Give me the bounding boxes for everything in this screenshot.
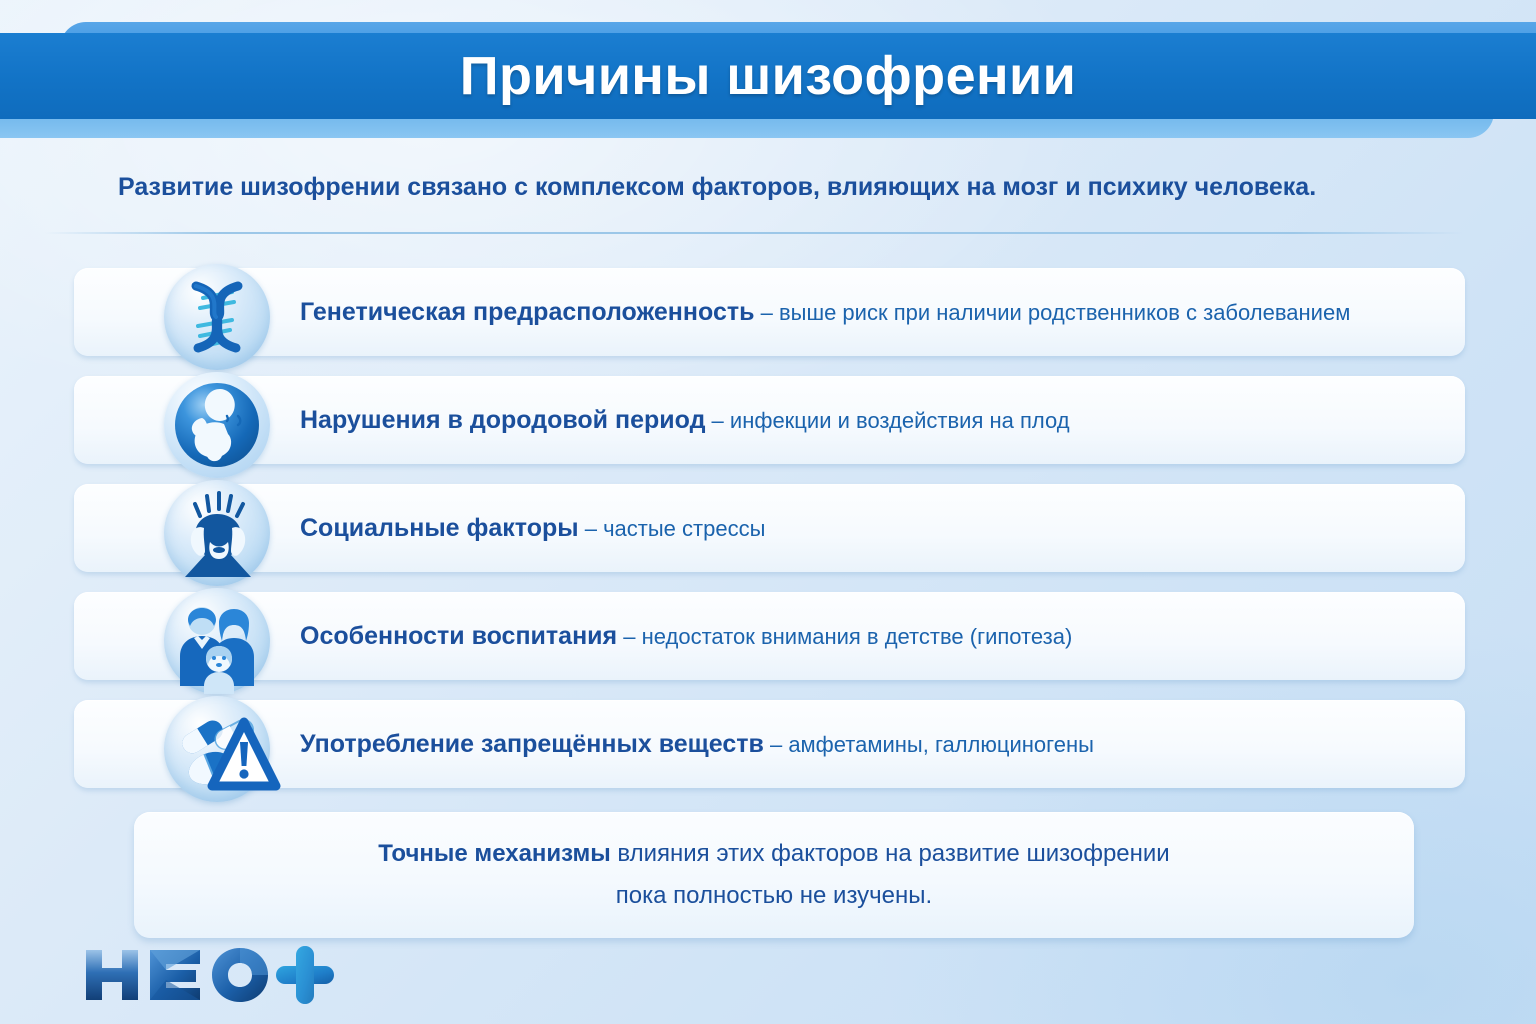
- conclusion-line-2: пока полностью не изучены.: [616, 882, 932, 910]
- factor-dash: –: [705, 408, 729, 433]
- factor-dash: –: [579, 516, 603, 541]
- factors-list: Генетическая предрасположенность – выше …: [0, 268, 1536, 808]
- header-divider: [44, 232, 1464, 234]
- conclusion-emphasis: Точные механизмы: [378, 840, 610, 867]
- list-item[interactable]: Употребление запрещённых веществ – амфет…: [0, 700, 1536, 804]
- factor-dash: –: [764, 732, 788, 757]
- factor-text: Нарушения в дородовой период – инфекции …: [300, 376, 1446, 464]
- logo-icon: [80, 944, 340, 1006]
- factor-text: Социальные факторы – частые стрессы: [300, 484, 1446, 572]
- header-banner: Причины шизофрении: [0, 33, 1536, 119]
- factor-desc: инфекции и воздействия на плод: [730, 408, 1070, 433]
- factor-title: Генетическая предрасположенность: [300, 298, 754, 326]
- list-item[interactable]: Особенности воспитания – недостаток вним…: [0, 592, 1536, 696]
- page-header: Причины шизофрении: [0, 0, 1536, 145]
- factor-dash: –: [754, 300, 778, 325]
- list-item[interactable]: Генетическая предрасположенность – выше …: [0, 268, 1536, 372]
- page-title: Причины шизофрении: [460, 45, 1076, 107]
- factor-title: Особенности воспитания: [300, 622, 617, 650]
- factor-desc: выше риск при наличии: [779, 300, 1028, 325]
- list-item[interactable]: Нарушения в дородовой период – инфекции …: [0, 376, 1536, 480]
- neo-plus-logo: [80, 944, 340, 1006]
- factor-desc-emphasis: родственников с заболеванием: [1028, 300, 1350, 325]
- conclusion-line-1-rest: влияния этих факторов на развитие шизофр…: [611, 840, 1170, 867]
- factor-title: Социальные факторы: [300, 514, 579, 542]
- factor-dash: –: [617, 624, 641, 649]
- list-item[interactable]: Социальные факторы – частые стрессы: [0, 484, 1536, 588]
- factor-title: Употребление запрещённых веществ: [300, 730, 764, 758]
- factor-desc: частые стрессы: [603, 516, 765, 541]
- factor-text: Особенности воспитания – недостаток вним…: [300, 592, 1446, 680]
- subtitle-text: Развитие шизофрении связано с комплексом…: [118, 173, 1476, 202]
- factor-desc: амфетамины, галлюциногены: [788, 732, 1094, 757]
- factor-desc: недостаток внимания в детстве (гипотеза): [642, 624, 1073, 649]
- factor-text: Генетическая предрасположенность – выше …: [300, 268, 1446, 356]
- factor-text: Употребление запрещённых веществ – амфет…: [300, 700, 1446, 788]
- conclusion-line-1: Точные механизмы влияния этих факторов н…: [378, 840, 1169, 868]
- conclusion-box: Точные механизмы влияния этих факторов н…: [134, 812, 1414, 938]
- factor-title: Нарушения в дородовой период: [300, 406, 705, 434]
